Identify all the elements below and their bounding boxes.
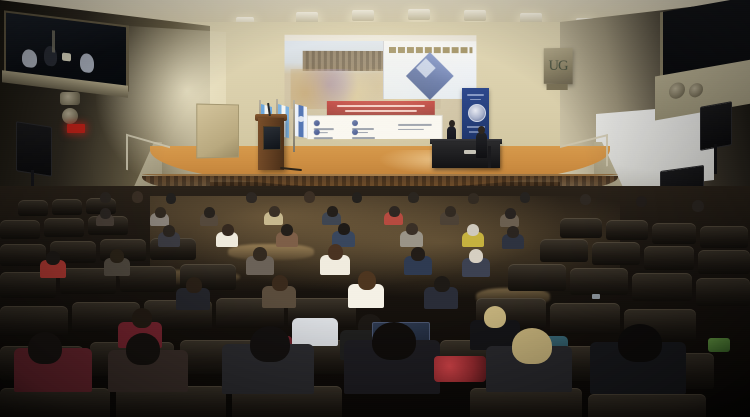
audience-head: [126, 333, 160, 365]
audience-head: [358, 271, 376, 290]
audience-head: [636, 196, 647, 207]
audience-head: [338, 223, 350, 235]
audience-head: [100, 192, 111, 203]
sponsor-logo: [398, 124, 432, 130]
audience-head: [520, 192, 530, 203]
presenter-seated: [476, 132, 487, 158]
audience-phone-screen: [592, 294, 600, 299]
slide-sponsor-logo-bar: [307, 115, 443, 139]
exit-sign: [67, 124, 85, 133]
audience-head: [445, 206, 456, 217]
audience-head: [389, 206, 400, 217]
audience-head: [468, 193, 479, 204]
audience-head: [100, 208, 111, 219]
ug-logo-text: UG: [549, 57, 568, 74]
audience-head: [328, 244, 343, 260]
sponsor-logo: [314, 129, 333, 139]
audience-head: [372, 322, 416, 360]
projection-screen-surface: [285, 35, 477, 140]
audience-head: [434, 276, 450, 292]
ug-logo-plaque: UG: [544, 48, 573, 85]
presenter-chair: [488, 146, 491, 168]
audience-head: [327, 206, 338, 217]
audience-head: [204, 207, 215, 218]
audience-head: [512, 328, 552, 364]
ceiling-light-fixture: [464, 10, 486, 21]
wall-vent-left: [60, 92, 80, 105]
audience-head: [28, 332, 62, 364]
ug-plaque-base: [547, 84, 568, 90]
loudspeaker-left: [16, 121, 52, 177]
audience-item-red-pattern: [434, 356, 486, 382]
audience-head: [166, 193, 176, 204]
audience-head: [580, 194, 591, 205]
seat-row: [0, 366, 750, 417]
audience-head: [618, 324, 662, 362]
audience-head: [253, 247, 267, 261]
auditorium-photo: UG: [0, 0, 750, 417]
audience-head: [250, 326, 290, 362]
audience-head: [132, 191, 143, 203]
audience-item-green: [708, 338, 730, 352]
flag-emblem: [298, 116, 304, 122]
audience-head: [304, 191, 315, 203]
banner-institutional-seal: [468, 104, 486, 122]
audience-head: [406, 223, 418, 235]
audience-head: [163, 225, 175, 237]
audience-torso: [292, 318, 338, 346]
projection-screen: [285, 35, 477, 140]
ceiling-light-fixture: [352, 10, 374, 21]
audience-head: [269, 206, 280, 217]
audience-head: [222, 224, 234, 236]
audience-head: [507, 226, 519, 238]
wall-speaker-grille-left: [62, 108, 78, 124]
backstage-door-panel: [196, 104, 239, 159]
audience-head: [469, 249, 483, 263]
audience-head: [484, 306, 506, 328]
audience-head: [692, 200, 704, 212]
audience-head: [186, 277, 202, 293]
audience-head: [505, 208, 516, 219]
audience-head: [411, 247, 425, 261]
audience-head: [246, 192, 257, 203]
audience-head: [155, 207, 166, 218]
loudspeaker-right-stand: [714, 144, 717, 174]
slide-caption-banner: [327, 101, 435, 115]
presenter-seated-head: [478, 126, 485, 134]
presenter-papers: [464, 150, 476, 154]
ceiling-light-fixture: [408, 9, 430, 20]
audience-head: [352, 192, 362, 203]
audience-head: [467, 224, 479, 236]
presenter-standing-head: [449, 120, 455, 127]
audience-head: [272, 275, 288, 291]
audience-head: [408, 192, 419, 203]
vent-grille-icon: [669, 81, 685, 100]
audience-head: [132, 308, 152, 328]
podium-confidence-monitor: [263, 126, 281, 150]
audience-head: [281, 224, 293, 236]
sponsor-logo: [352, 129, 375, 139]
audience-head: [46, 251, 60, 265]
vent-grille-icon: [689, 82, 703, 98]
audience-head: [110, 249, 124, 263]
